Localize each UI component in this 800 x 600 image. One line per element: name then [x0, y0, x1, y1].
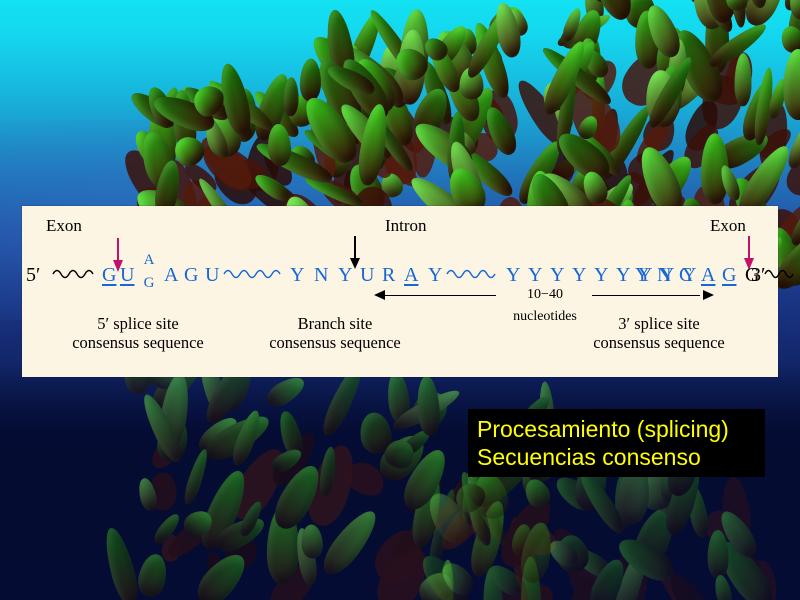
splicing-diagram-panel: Exon Intron Exon 5′ G U A G A G U — [22, 206, 778, 377]
caption-branch-line2: consensus sequence — [240, 333, 430, 352]
caption-line-1: Procesamiento (splicing) — [477, 415, 729, 443]
seq-g-1: G — [184, 262, 198, 288]
nucleotide-distance-measure: 10−40 nucleotides — [374, 284, 714, 306]
caption-branch-site: Branch site consensus sequence — [240, 314, 430, 352]
seq-a-1: A — [164, 262, 178, 288]
seq-branch-n1: N — [314, 262, 328, 288]
caption-five-line1: 5′ splice site — [97, 314, 179, 333]
seq-u-1: U — [205, 262, 219, 288]
seq-five-prime-end: 5′ — [26, 262, 40, 288]
caption-branch-line1: Branch site — [298, 314, 373, 333]
label-exon-right: Exon — [710, 217, 746, 234]
caption-three-prime-splice-site: 3′ splice site consensus sequence — [550, 314, 768, 352]
seq-gu-five-splice: G — [102, 262, 116, 288]
label-exon-left: Exon — [46, 217, 82, 234]
seq-branch-y1: Y — [290, 262, 304, 288]
slide-caption-box: Procesamiento (splicing) Secuencias cons… — [468, 409, 765, 477]
sea-floor-shadow — [0, 360, 800, 600]
squiggle-exon-right-icon — [764, 266, 794, 280]
seq-three-prime-end: 3′ — [751, 262, 765, 288]
seq-gu-five-splice-2: U — [120, 262, 134, 288]
measure-right-arrowhead-icon — [703, 290, 714, 300]
measure-left-line — [384, 295, 496, 296]
caption-three-line1: 3′ splice site — [618, 314, 700, 333]
seq-branch-y2: Y — [338, 262, 352, 288]
seq-branch-stack-top: A — [142, 253, 156, 268]
squiggle-exon-left-icon — [52, 266, 96, 280]
caption-five-line2: consensus sequence — [38, 333, 238, 352]
caption-line-2: Secuencias consenso — [477, 443, 701, 471]
measure-right-line — [592, 295, 700, 296]
seq-branch-u1: U — [360, 262, 374, 288]
label-intron: Intron — [385, 217, 427, 234]
caption-three-line2: consensus sequence — [550, 333, 768, 352]
squiggle-intron-left-icon — [223, 266, 287, 280]
seq-three-g: G — [722, 262, 736, 288]
caption-five-prime-splice-site: 5′ splice site consensus sequence — [38, 314, 238, 352]
seq-branch-stack-bottom: G — [142, 276, 156, 291]
squiggle-intron-right-icon — [446, 266, 504, 280]
slide-canvas: Exon Intron Exon 5′ G U A G A G U — [0, 0, 800, 600]
